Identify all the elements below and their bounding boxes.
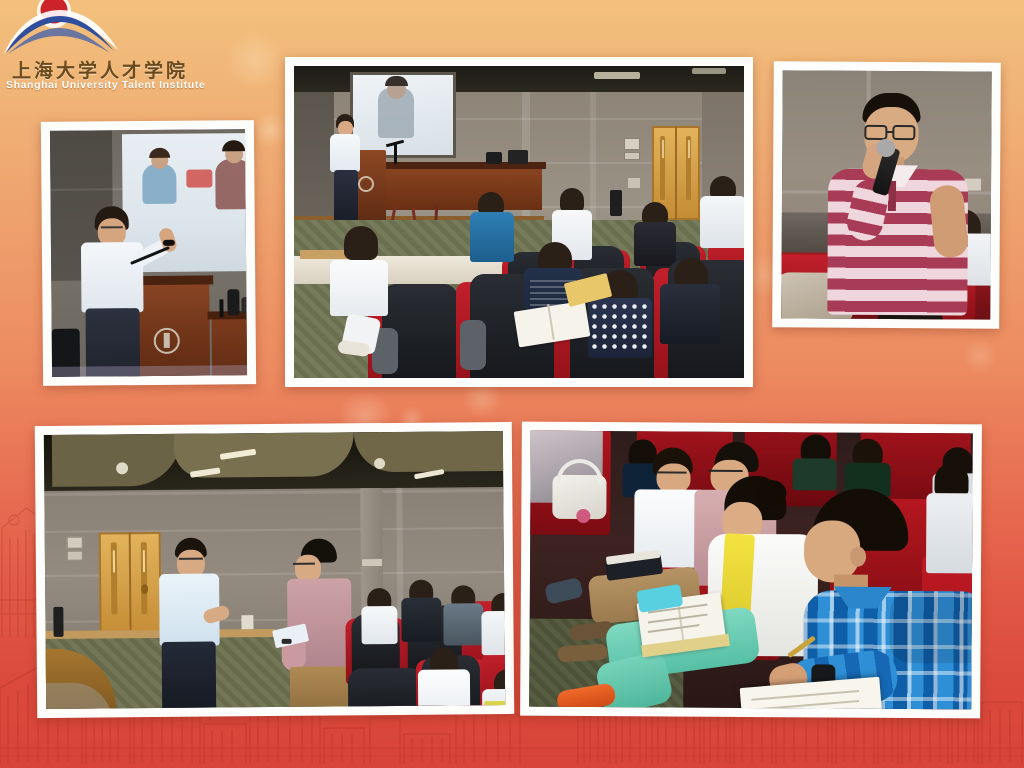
photo-person bbox=[401, 580, 442, 642]
photo-person bbox=[361, 588, 397, 644]
photo-audience-closeup[interactable] bbox=[520, 422, 982, 719]
logo-mark-icon bbox=[2, 0, 202, 56]
photo-person bbox=[330, 226, 390, 316]
photo-person bbox=[328, 114, 364, 224]
photo-person bbox=[700, 176, 744, 248]
slide-canvas: 上海大学人才学院 Shanghai University Talent Inst… bbox=[0, 0, 1024, 768]
photo-speaker-podium[interactable] bbox=[41, 120, 256, 386]
photo-discussion[interactable] bbox=[35, 422, 515, 718]
photo-person bbox=[482, 669, 505, 709]
photo-student-microphone[interactable] bbox=[772, 61, 1001, 328]
bokeh-circle bbox=[252, 112, 288, 148]
photo-speaker-podium-image bbox=[50, 129, 247, 377]
bokeh-circle bbox=[962, 338, 998, 374]
bokeh-circle bbox=[225, 30, 285, 90]
photo-lecture-hall-wide[interactable] bbox=[285, 57, 753, 387]
photo-person bbox=[481, 593, 505, 655]
photo-person bbox=[157, 537, 225, 709]
photo-discussion-image bbox=[44, 431, 505, 709]
photo-person bbox=[926, 463, 973, 573]
photo-person bbox=[470, 192, 514, 262]
photo-person bbox=[443, 585, 484, 645]
photo-person bbox=[418, 647, 471, 709]
logo-name-english: Shanghai University Talent Institute bbox=[6, 79, 205, 91]
photo-person bbox=[632, 202, 676, 264]
photo-person bbox=[660, 258, 724, 354]
photo-person bbox=[827, 93, 976, 316]
photo-audience-closeup-image bbox=[529, 431, 973, 710]
photo-lecture-hall-wide-image bbox=[294, 66, 744, 378]
institute-logo: 上海大学人才学院 Shanghai University Talent Inst… bbox=[2, 0, 202, 100]
photo-student-microphone-image bbox=[781, 70, 992, 319]
photo-person bbox=[73, 206, 161, 377]
